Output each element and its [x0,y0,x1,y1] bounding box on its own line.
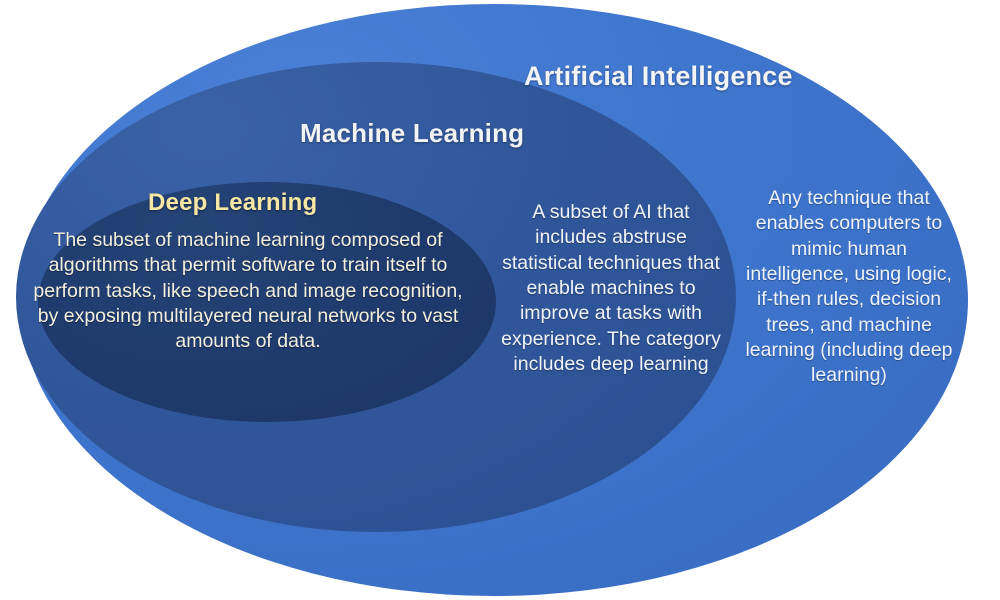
deep-learning-description: The subset of machine learning composed … [22,228,474,355]
deep-learning-title: Deep Learning [148,190,317,216]
machine-learning-description: A subset of AI that includes abstruse st… [497,200,725,377]
machine-learning-title: Machine Learning [300,119,524,148]
artificial-intelligence-description: Any technique that enables computers to … [742,186,956,389]
diagram-canvas: Artificial Intelligence Machine Learning… [0,0,1000,600]
artificial-intelligence-title: Artificial Intelligence [524,62,793,92]
